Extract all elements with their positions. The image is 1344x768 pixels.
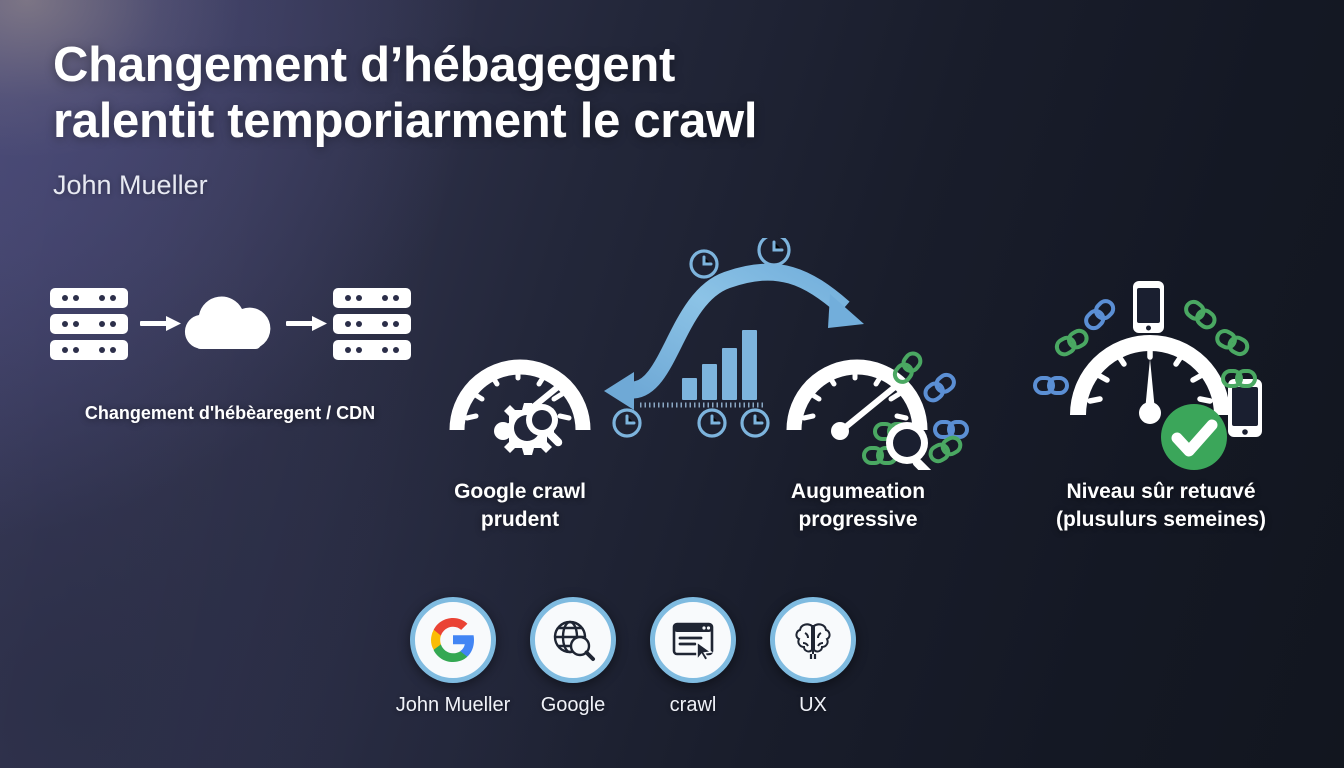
- green-check-badge: [1161, 404, 1227, 470]
- badge-john-mueller[interactable]: John Mueller: [410, 597, 496, 717]
- gauge-high-icon: [1020, 275, 1290, 475]
- browser-cursor-icon: [669, 616, 717, 664]
- phone-icon: [1133, 281, 1164, 333]
- hosting-caption: Changement d'hébèaregent / CDN: [40, 402, 420, 426]
- arrow-right-icon: [140, 316, 181, 331]
- gear-magnifier-icon: [502, 403, 564, 455]
- page-subtitle: John Mueller: [53, 170, 883, 201]
- badge-crawl[interactable]: crawl: [650, 597, 736, 717]
- badge-circle[interactable]: [770, 597, 856, 683]
- badge-circle[interactable]: [650, 597, 736, 683]
- step-caption-niveau-sur: Niveau sûr retuɑvé (plusulurs semeines): [1036, 478, 1286, 534]
- gauge-augmentation-group: [780, 330, 980, 475]
- badge-circle[interactable]: [530, 597, 616, 683]
- badge-label: John Mueller: [396, 694, 511, 717]
- badge-circle[interactable]: [410, 597, 496, 683]
- gauge-crawl-prudent-group: [443, 330, 598, 470]
- cloud-icon: [185, 297, 270, 349]
- gauge-niveau-sur-group: [1020, 275, 1290, 480]
- hosting-migration-group: [40, 286, 415, 366]
- step-caption-crawl-prudent: Google crawl prudent: [435, 478, 605, 534]
- badge-ux[interactable]: UX: [770, 597, 856, 717]
- badge-label: crawl: [670, 694, 717, 717]
- globe-search-icon: [549, 616, 597, 664]
- header: Changement d’hébagegent ralentit tempori…: [53, 38, 883, 201]
- hosting-migration-icons: [40, 286, 415, 366]
- badge-label: UX: [799, 694, 827, 717]
- server-stack-icon: [50, 288, 128, 360]
- gauge-low-icon: [443, 330, 598, 465]
- bar-chart-icon: [682, 330, 757, 400]
- badge-google[interactable]: Google: [530, 597, 616, 717]
- google-g-icon: [429, 616, 477, 664]
- infographic-canvas: Changement d’hébagegent ralentit tempori…: [0, 0, 1344, 768]
- page-title: Changement d’hébagegent ralentit tempori…: [53, 38, 883, 150]
- entity-badges: John Mueller Google: [410, 597, 856, 717]
- gauge-mid-icon: [780, 330, 980, 470]
- server-stack-icon: [333, 288, 411, 360]
- arrow-right-icon: [286, 316, 327, 331]
- brain-icon: [789, 616, 837, 664]
- step-caption-augmentation: Augumeation progressive: [768, 478, 948, 534]
- badge-label: Google: [541, 694, 606, 717]
